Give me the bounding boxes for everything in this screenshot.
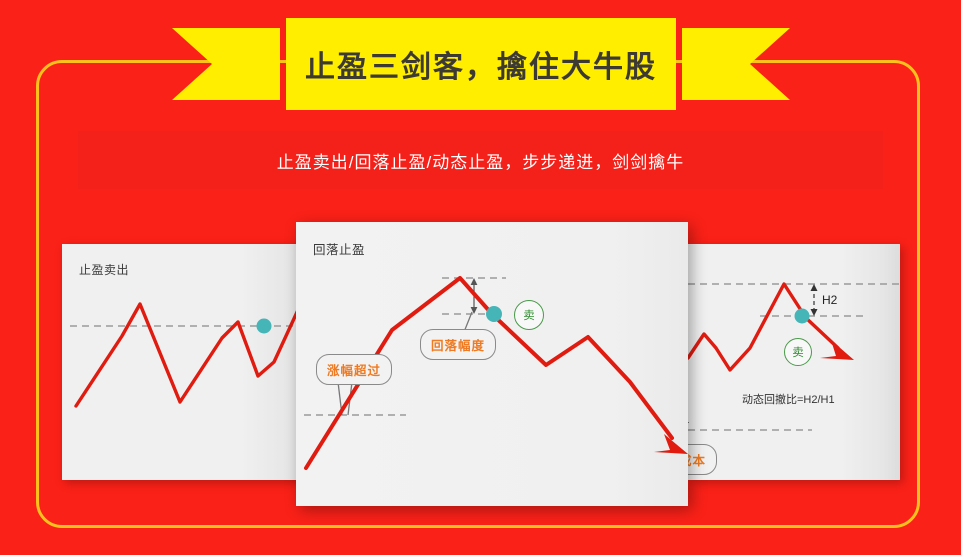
callout-rise-above: 涨幅超过 xyxy=(316,354,392,385)
price-line xyxy=(76,284,310,406)
downtrend-arrowhead xyxy=(820,340,854,360)
dynamic-drawdown-ratio-text: 动态回撤比=H2/H1 xyxy=(742,391,835,407)
card-dynamic-take-profit: H2 H1 动态回撤比=H2/H1 卖 成本 xyxy=(688,244,900,480)
card-take-profit-sell: 止盈卖出 卖 xyxy=(62,244,310,480)
h1-label: H1 xyxy=(688,412,689,426)
sell-point-marker xyxy=(257,319,272,334)
callout-cost: 成本 xyxy=(688,444,717,475)
h2-label: H2 xyxy=(822,293,837,307)
poster-title: 止盈三剑客，擒住大牛股 xyxy=(172,18,790,110)
sell-badge[interactable]: 卖 xyxy=(784,338,812,366)
callout-pullback-amplitude: 回落幅度 xyxy=(420,329,496,360)
pullback-arrow-up xyxy=(471,278,478,285)
subtitle-bar: 止盈卖出/回落止盈/动态止盈，步步递进，剑剑擒牛 xyxy=(78,131,883,189)
sell-point-marker xyxy=(795,309,810,324)
h2-arrow-up xyxy=(811,284,818,291)
subtitle-text: 止盈卖出/回落止盈/动态止盈，步步递进，剑剑擒牛 xyxy=(277,148,684,173)
sell-badge[interactable]: 卖 xyxy=(514,300,544,330)
h2-arrow-down xyxy=(811,309,818,316)
title-ribbon: 止盈三剑客，擒住大牛股 xyxy=(172,18,790,110)
poster-root: 止盈三剑客，擒住大牛股 止盈卖出/回落止盈/动态止盈，步步递进，剑剑擒牛 止盈卖… xyxy=(0,0,961,555)
card-left-chart xyxy=(62,244,310,480)
price-line xyxy=(688,284,838,370)
card-pullback-take-profit: 回落止盈 涨幅超过 回落幅度 卖 xyxy=(296,222,688,506)
sell-point-marker xyxy=(486,306,502,322)
